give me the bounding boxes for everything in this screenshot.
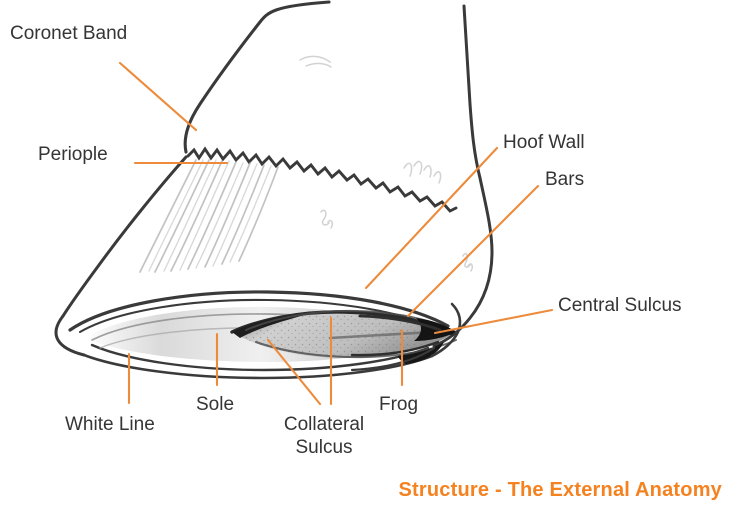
label-coronet-band: Coronet Band [10,22,127,45]
label-bars: Bars [545,168,584,191]
label-periople: Periople [38,143,108,166]
label-hoof-wall: Hoof Wall [503,131,585,154]
hoof-wall-striations [140,160,278,272]
leader-central-sulcus [435,310,552,333]
wall-face-texture [300,56,472,271]
leader-bars [408,186,538,316]
label-frog: Frog [379,393,418,416]
pastern-left-contour [185,2,329,152]
hoof-wall-toe-edge [63,157,186,316]
figure-caption: Structure - The External Anatomy [399,479,723,502]
pastern-right-contour [464,6,480,178]
label-central-sulcus: Central Sulcus [558,294,682,317]
label-collateral-sulcus-line1: Collateral [284,414,364,435]
label-collateral-sulcus: Collateral Sulcus [274,413,374,459]
label-sole: Sole [196,393,234,416]
diagram-canvas: Coronet Band Periople Hoof Wall Bars Cen… [0,0,740,510]
label-white-line: White Line [65,413,155,436]
hoof-wall-toe-bottom-curl [56,316,84,355]
leader-coronet-band [120,63,196,130]
label-collateral-sulcus-line2: Sulcus [295,437,352,458]
hoof-drawing-group [56,2,492,378]
